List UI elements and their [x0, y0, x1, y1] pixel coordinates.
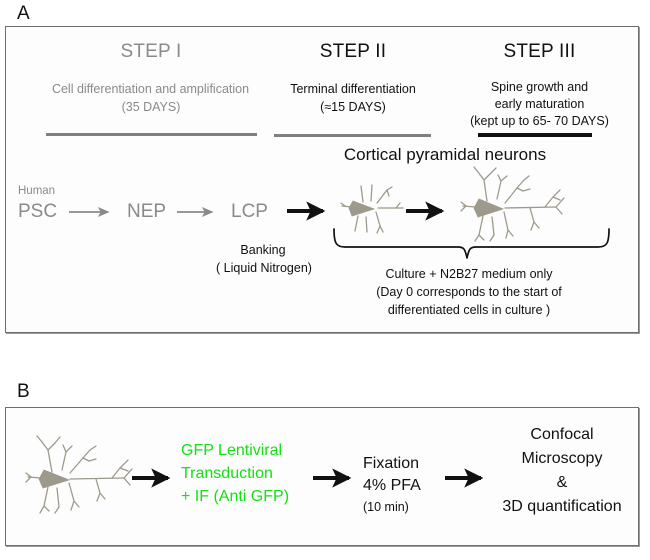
stage-lcp-label: LCP: [231, 200, 268, 223]
step-2-title: STEP II: [273, 40, 433, 63]
step-1-title: STEP I: [45, 40, 257, 63]
step-2-subtitle-line1: Terminal differentiation: [273, 82, 433, 97]
panel-b-label: B: [17, 382, 30, 401]
cortical-pyramidal-neurons-label: Cortical pyramidal neurons: [275, 145, 615, 166]
banking-label-line1: Banking: [193, 243, 333, 258]
figure-root: A STEP I Cell differentiation and amplif…: [0, 0, 650, 560]
banking-label-line2: ( Liquid Nitrogen): [180, 261, 348, 276]
imaging-line1: Confocal: [487, 425, 637, 445]
brace-caption-line3: differentiated cells in culture ): [338, 303, 600, 318]
step-3-subtitle-line1: Spine growth and: [467, 80, 612, 95]
step-1-subtitle-line2: (35 DAYS): [45, 100, 257, 115]
imaging-line3: &: [487, 473, 637, 493]
step-3-underline: [478, 133, 592, 137]
step-2-subtitle-line2: (≈15 DAYS): [273, 100, 433, 115]
step-3-subtitle-line2: early maturation: [467, 97, 612, 112]
step-2-underline: [274, 134, 431, 137]
step-1-underline: [46, 133, 257, 136]
step-1-subtitle-line1: Cell differentiation and amplification: [8, 82, 293, 97]
fixation-line1: Fixation: [363, 454, 419, 474]
brace-caption-line1: Culture + N2B27 medium only: [338, 267, 600, 282]
human-label: Human: [18, 184, 55, 198]
gfp-transduction-line2: Transduction: [181, 464, 273, 484]
step-3-title: STEP III: [467, 40, 612, 63]
stage-nep-label: NEP: [127, 200, 166, 223]
panel-a-label: A: [17, 4, 30, 23]
fixation-note: (10 min): [363, 500, 409, 515]
brace-caption-line2: (Day 0 corresponds to the start of: [338, 285, 600, 300]
imaging-line4: 3D quantification: [480, 497, 644, 517]
gfp-transduction-line3: + IF (Anti GFP): [181, 487, 289, 507]
stage-psc-label: PSC: [18, 200, 57, 223]
fixation-line2: 4% PFA: [363, 476, 421, 496]
imaging-line2: Microscopy: [487, 449, 637, 469]
step-3-subtitle-line3: (kept up to 65- 70 DAYS): [447, 114, 632, 129]
gfp-transduction-line1: GFP Lentiviral: [181, 441, 282, 461]
